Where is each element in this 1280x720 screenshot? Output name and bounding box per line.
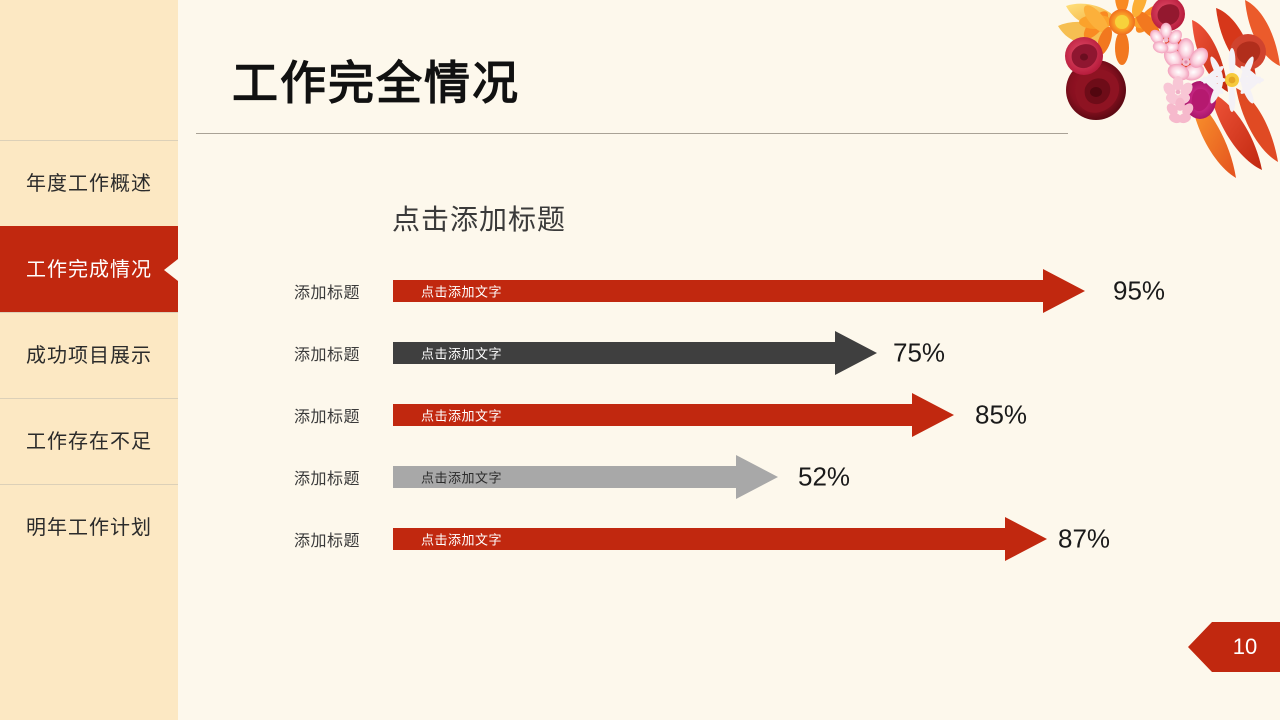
floral-decoration-icon	[1040, 0, 1280, 200]
sidebar-item-annual-overview[interactable]: 年度工作概述	[0, 140, 178, 226]
chart-row: 添加标题 点击添加文字 87%	[0, 508, 1280, 570]
chart-row: 添加标题 点击添加文字 85%	[0, 384, 1280, 446]
bar-text: 点击添加文字	[421, 344, 502, 363]
bar-arrow[interactable]: 点击添加文字	[393, 269, 1085, 313]
bar-arrow[interactable]: 点击添加文字	[393, 331, 877, 375]
bar-arrow-container[interactable]: 点击添加文字	[393, 455, 778, 499]
row-label: 添加标题	[294, 279, 360, 303]
bar-text: 点击添加文字	[421, 406, 502, 425]
bar-arrow-container[interactable]: 点击添加文字	[393, 393, 954, 437]
bar-arrow[interactable]: 点击添加文字	[393, 517, 1047, 561]
bar-arrow-container[interactable]: 点击添加文字	[393, 331, 877, 375]
chart-row: 添加标题 点击添加文字 75%	[0, 322, 1280, 384]
row-label: 添加标题	[294, 403, 360, 427]
bar-arrow[interactable]: 点击添加文字	[393, 455, 778, 499]
page-number-badge: 10	[1188, 622, 1280, 672]
chart-row: 添加标题 点击添加文字 52%	[0, 446, 1280, 508]
page-title: 工作完全情况	[232, 58, 520, 109]
value-label: 52%	[798, 462, 850, 493]
chart-title: 点击添加标题	[392, 198, 566, 238]
value-label: 95%	[1113, 276, 1165, 307]
arrow-bar-chart: 添加标题 点击添加文字 95% 添加标题 点击添加文字	[0, 260, 1280, 570]
value-label: 87%	[1058, 524, 1110, 555]
slide: 年度工作概述 工作完成情况 成功项目展示 工作存在不足 明年工作计划 工作完全情…	[0, 0, 1280, 720]
row-label: 添加标题	[294, 465, 360, 489]
row-label: 添加标题	[294, 527, 360, 551]
value-label: 85%	[975, 400, 1027, 431]
bar-text: 点击添加文字	[421, 282, 502, 301]
bar-arrow-container[interactable]: 点击添加文字	[393, 517, 1047, 561]
bar-arrow[interactable]: 点击添加文字	[393, 393, 954, 437]
chart-row: 添加标题 点击添加文字 95%	[0, 260, 1280, 322]
bar-text: 点击添加文字	[421, 530, 502, 549]
sidebar-item-label: 年度工作概述	[26, 174, 152, 194]
row-label: 添加标题	[294, 341, 360, 365]
page-number: 10	[1188, 622, 1280, 672]
bar-text: 点击添加文字	[421, 468, 502, 487]
title-divider	[196, 133, 1068, 134]
value-label: 75%	[893, 338, 945, 369]
bar-arrow-container[interactable]: 点击添加文字	[393, 269, 1085, 313]
